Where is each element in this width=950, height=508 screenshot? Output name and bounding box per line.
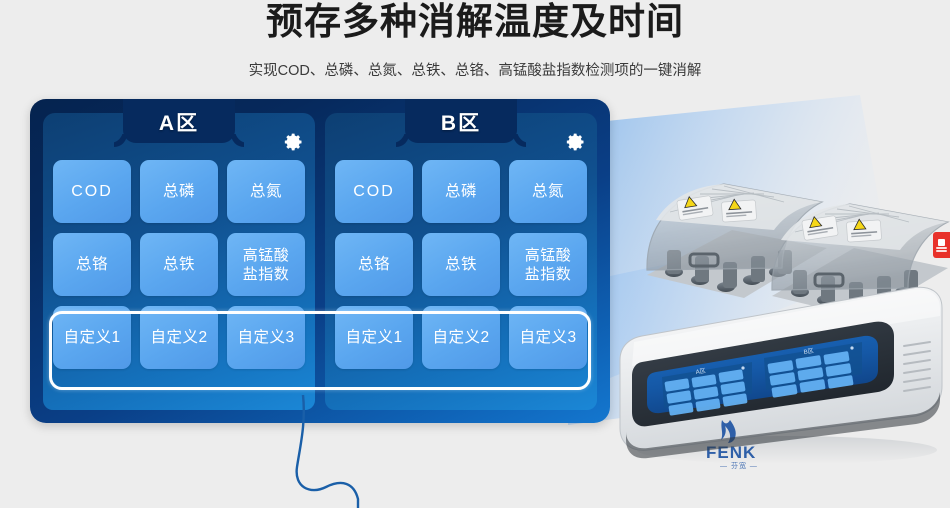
zone-b-button-custom-1[interactable]: 自定义1 — [335, 306, 413, 369]
zone-b-button-cod[interactable]: COD — [335, 160, 413, 223]
zone-b-button-tfe[interactable]: 总铁 — [422, 233, 500, 296]
digestion-instrument-photo: A区 B区 — [612, 150, 950, 480]
zone-b-settings-button[interactable] — [566, 132, 586, 152]
zone-a-tab: A区 — [43, 113, 315, 145]
zone-a-label: A区 — [159, 107, 199, 137]
zone-b-button-custom-2[interactable]: 自定义2 — [422, 306, 500, 369]
zone-a: A区 COD 总磷 总氮 总铬 总铁 高锰酸 盐指数 自定义1 自定义2 自定义… — [43, 113, 315, 410]
zone-a-button-tfe[interactable]: 总铁 — [140, 233, 218, 296]
digestion-screen-panel: A区 COD 总磷 总氮 总铬 总铁 高锰酸 盐指数 自定义1 自定义2 自定义… — [30, 99, 610, 423]
badge-line — [936, 250, 947, 252]
badge-line — [936, 247, 947, 249]
zone-b-tab: B区 — [325, 113, 597, 145]
zone-b-label: B区 — [441, 107, 481, 137]
gear-icon — [284, 132, 304, 152]
zone-b: B区 COD 总磷 总氮 总铬 总铁 高锰酸 盐指数 自定义1 自定义2 自定义… — [325, 113, 597, 410]
page-header: 预存多种消解温度及时间 实现COD、总磷、总氮、总铁、总铬、高锰酸盐指数检测项的… — [0, 0, 950, 92]
zone-a-button-grid: COD 总磷 总氮 总铬 总铁 高锰酸 盐指数 自定义1 自定义2 自定义3 — [43, 143, 315, 369]
zone-a-settings-button[interactable] — [284, 132, 304, 152]
side-contact-badge[interactable] — [933, 232, 950, 258]
zone-a-button-tn[interactable]: 总氮 — [227, 160, 305, 223]
page-title: 预存多种消解温度及时间 — [0, 0, 950, 46]
hazard-label-4 — [846, 219, 881, 242]
zone-a-button-custom-1[interactable]: 自定义1 — [53, 306, 131, 369]
contact-card-icon — [938, 239, 945, 246]
gear-icon — [566, 132, 586, 152]
zone-b-button-custom-3[interactable]: 自定义3 — [509, 306, 587, 369]
zone-a-button-tcr[interactable]: 总铬 — [53, 233, 131, 296]
zone-b-button-tcr[interactable]: 总铬 — [335, 233, 413, 296]
zone-a-button-custom-3[interactable]: 自定义3 — [227, 306, 305, 369]
zone-b-button-tn[interactable]: 总氮 — [509, 160, 587, 223]
zone-a-button-codmn[interactable]: 高锰酸 盐指数 — [227, 233, 305, 296]
zone-a-button-custom-2[interactable]: 自定义2 — [140, 306, 218, 369]
hazard-label-2 — [721, 199, 756, 222]
zone-b-button-tp[interactable]: 总磷 — [422, 160, 500, 223]
zone-b-button-codmn[interactable]: 高锰酸 盐指数 — [509, 233, 587, 296]
zone-a-button-tp[interactable]: 总磷 — [140, 160, 218, 223]
page-subtitle: 实现COD、总磷、总氮、总铁、总铬、高锰酸盐指数检测项的一键消解 — [0, 60, 950, 82]
zone-b-button-grid: COD 总磷 总氮 总铬 总铁 高锰酸 盐指数 自定义1 自定义2 自定义3 — [325, 143, 597, 369]
zone-a-button-cod[interactable]: COD — [53, 160, 131, 223]
brand-name-cn: — 芬宽 — — [720, 461, 758, 470]
